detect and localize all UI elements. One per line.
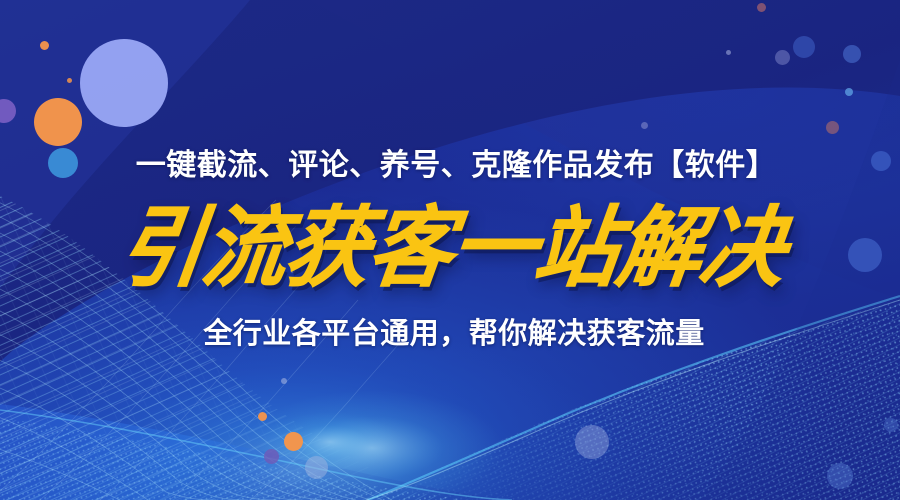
orange-dot-tiny-circle xyxy=(67,78,72,83)
lavender-circle-large-circle xyxy=(80,39,168,127)
purple-circle-low-circle xyxy=(264,449,279,464)
orange-circle-low-circle xyxy=(284,432,303,451)
blue-dot-right-a-circle xyxy=(793,36,815,58)
pale-dot-mid-circle xyxy=(290,268,295,273)
pale-circle-lowright-circle xyxy=(575,425,609,459)
blue-dot-medium-circle xyxy=(48,148,78,178)
pale-dot-right-c-circle xyxy=(726,50,731,55)
promo-banner: 一键截流、评论、养号、克隆作品发布【软件】 引流获客一站解决 全行业各平台通用，… xyxy=(0,0,900,500)
pale-circle-low-circle xyxy=(305,456,328,479)
orange-circle-large-circle xyxy=(34,98,82,146)
pale-dot-low-mid-circle xyxy=(281,378,287,384)
blue-dot-right-c-circle xyxy=(871,151,891,171)
orange-dot-low-a-circle xyxy=(258,412,267,421)
blue-dot-mid-right-circle xyxy=(848,238,882,272)
purple-circle-edge-circle xyxy=(0,99,16,123)
rose-dot-right-a-circle xyxy=(757,3,766,12)
lavender-dot-small-circle xyxy=(641,122,648,129)
blue-dot-far-right-circle xyxy=(884,418,898,432)
decorative-circles xyxy=(0,0,900,500)
orange-dot-small-top-circle xyxy=(40,41,49,50)
cyan-dot-right-b-circle xyxy=(845,88,853,96)
blue-dot-right-b-circle xyxy=(843,45,861,63)
lavender-dot-right-a-circle xyxy=(775,50,790,65)
blue-dot-lowright-circle xyxy=(827,463,853,489)
rose-dot-right-b-circle xyxy=(826,121,839,134)
